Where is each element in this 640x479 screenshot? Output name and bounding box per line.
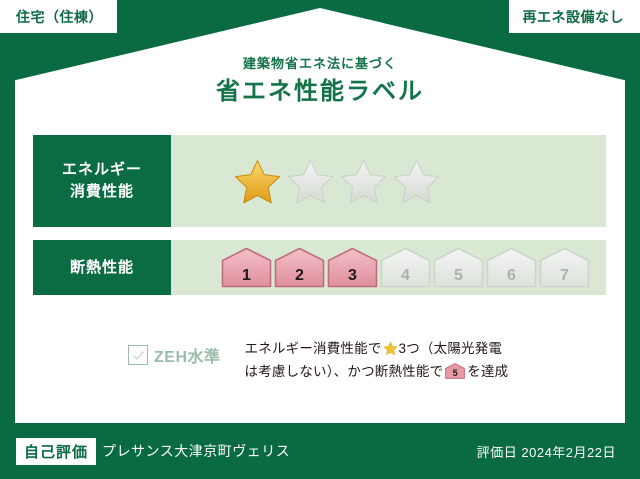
insulation-badge-number: 7 bbox=[539, 268, 590, 284]
star-empty-icon bbox=[392, 158, 441, 205]
self-evaluation-badge: 自己評価 bbox=[16, 438, 96, 465]
check-box-icon bbox=[128, 345, 148, 365]
star-icon bbox=[383, 341, 398, 356]
insulation-badge-number: 1 bbox=[221, 268, 272, 284]
insulation-performance-row: 断熱性能 1234567 bbox=[33, 240, 606, 295]
building-name: プレサンス大津京町ヴェリス bbox=[102, 441, 290, 461]
insulation-label-text: 断熱性能 bbox=[70, 257, 134, 279]
star-empty-icon bbox=[339, 158, 388, 205]
achievement-note-line1: エネルギー消費性能で3つ（太陽光発電 bbox=[245, 337, 509, 360]
achievement-note-line2: は考慮しない）、かつ断熱性能で5を達成 bbox=[245, 360, 509, 383]
star-filled-icon bbox=[233, 158, 282, 205]
insulation-badge-number: 3 bbox=[327, 268, 378, 284]
insulation-badge-number: 5 bbox=[433, 268, 484, 284]
inline-insulation-badge: 5 bbox=[445, 363, 465, 379]
insulation-badge-filled: 3 bbox=[327, 247, 378, 288]
insulation-badge-filled: 1 bbox=[221, 247, 272, 288]
star-empty-icon bbox=[286, 158, 335, 205]
energy-performance-label: エネルギー 消費性能 bbox=[33, 135, 171, 227]
zeh-standard-label: ZEH水準 bbox=[154, 343, 221, 367]
note-line2-prefix: は考慮しない）、かつ断熱性能で bbox=[245, 364, 444, 379]
zeh-standard-mark: ZEH水準 bbox=[128, 343, 221, 367]
insulation-badge-number: 2 bbox=[274, 268, 325, 284]
page-title: 省エネ性能ラベル bbox=[0, 76, 640, 107]
insulation-performance-label: 断熱性能 bbox=[33, 240, 171, 295]
title-block: 建築物省エネ法に基づく 省エネ性能ラベル bbox=[0, 56, 640, 107]
note-line2-suffix: を達成 bbox=[467, 364, 508, 379]
evaluation-date: 評価日 2024年2月22日 bbox=[477, 442, 616, 461]
insulation-badge-empty: 6 bbox=[486, 247, 537, 288]
energy-label-line1: エネルギー bbox=[62, 159, 142, 181]
energy-performance-row: エネルギー 消費性能 bbox=[33, 135, 606, 227]
insulation-badge-empty: 4 bbox=[380, 247, 431, 288]
building-type-tag: 住宅（住棟） bbox=[0, 0, 117, 33]
insulation-badge-empty: 7 bbox=[539, 247, 590, 288]
insulation-badge-empty: 5 bbox=[433, 247, 484, 288]
energy-label-line2: 消費性能 bbox=[70, 181, 134, 203]
achievement-note: エネルギー消費性能で3つ（太陽光発電 は考慮しない）、かつ断熱性能で5を達成 bbox=[245, 337, 509, 383]
star-rating bbox=[171, 135, 606, 227]
note-line1-prefix: エネルギー消費性能で bbox=[245, 341, 382, 356]
footer-bar: 自己評価 プレサンス大津京町ヴェリス 評価日 2024年2月22日 bbox=[0, 423, 640, 479]
renewable-energy-tag: 再エネ設備なし bbox=[509, 0, 640, 33]
note-line1-suffix: 3つ（太陽光発電 bbox=[399, 341, 503, 356]
insulation-level-scale: 1234567 bbox=[221, 247, 592, 288]
insulation-badge-filled: 2 bbox=[274, 247, 325, 288]
energy-label-card: 住宅（住棟） 再エネ設備なし 建築物省エネ法に基づく 省エネ性能ラベル エネルギ… bbox=[0, 0, 640, 479]
inline-badge-number: 5 bbox=[445, 369, 465, 378]
insulation-badge-number: 4 bbox=[380, 268, 431, 284]
law-subtitle: 建築物省エネ法に基づく bbox=[0, 56, 640, 72]
insulation-badge-number: 6 bbox=[486, 268, 537, 284]
zeh-note-block: ZEH水準 エネルギー消費性能で3つ（太陽光発電 は考慮しない）、かつ断熱性能で… bbox=[128, 335, 508, 383]
